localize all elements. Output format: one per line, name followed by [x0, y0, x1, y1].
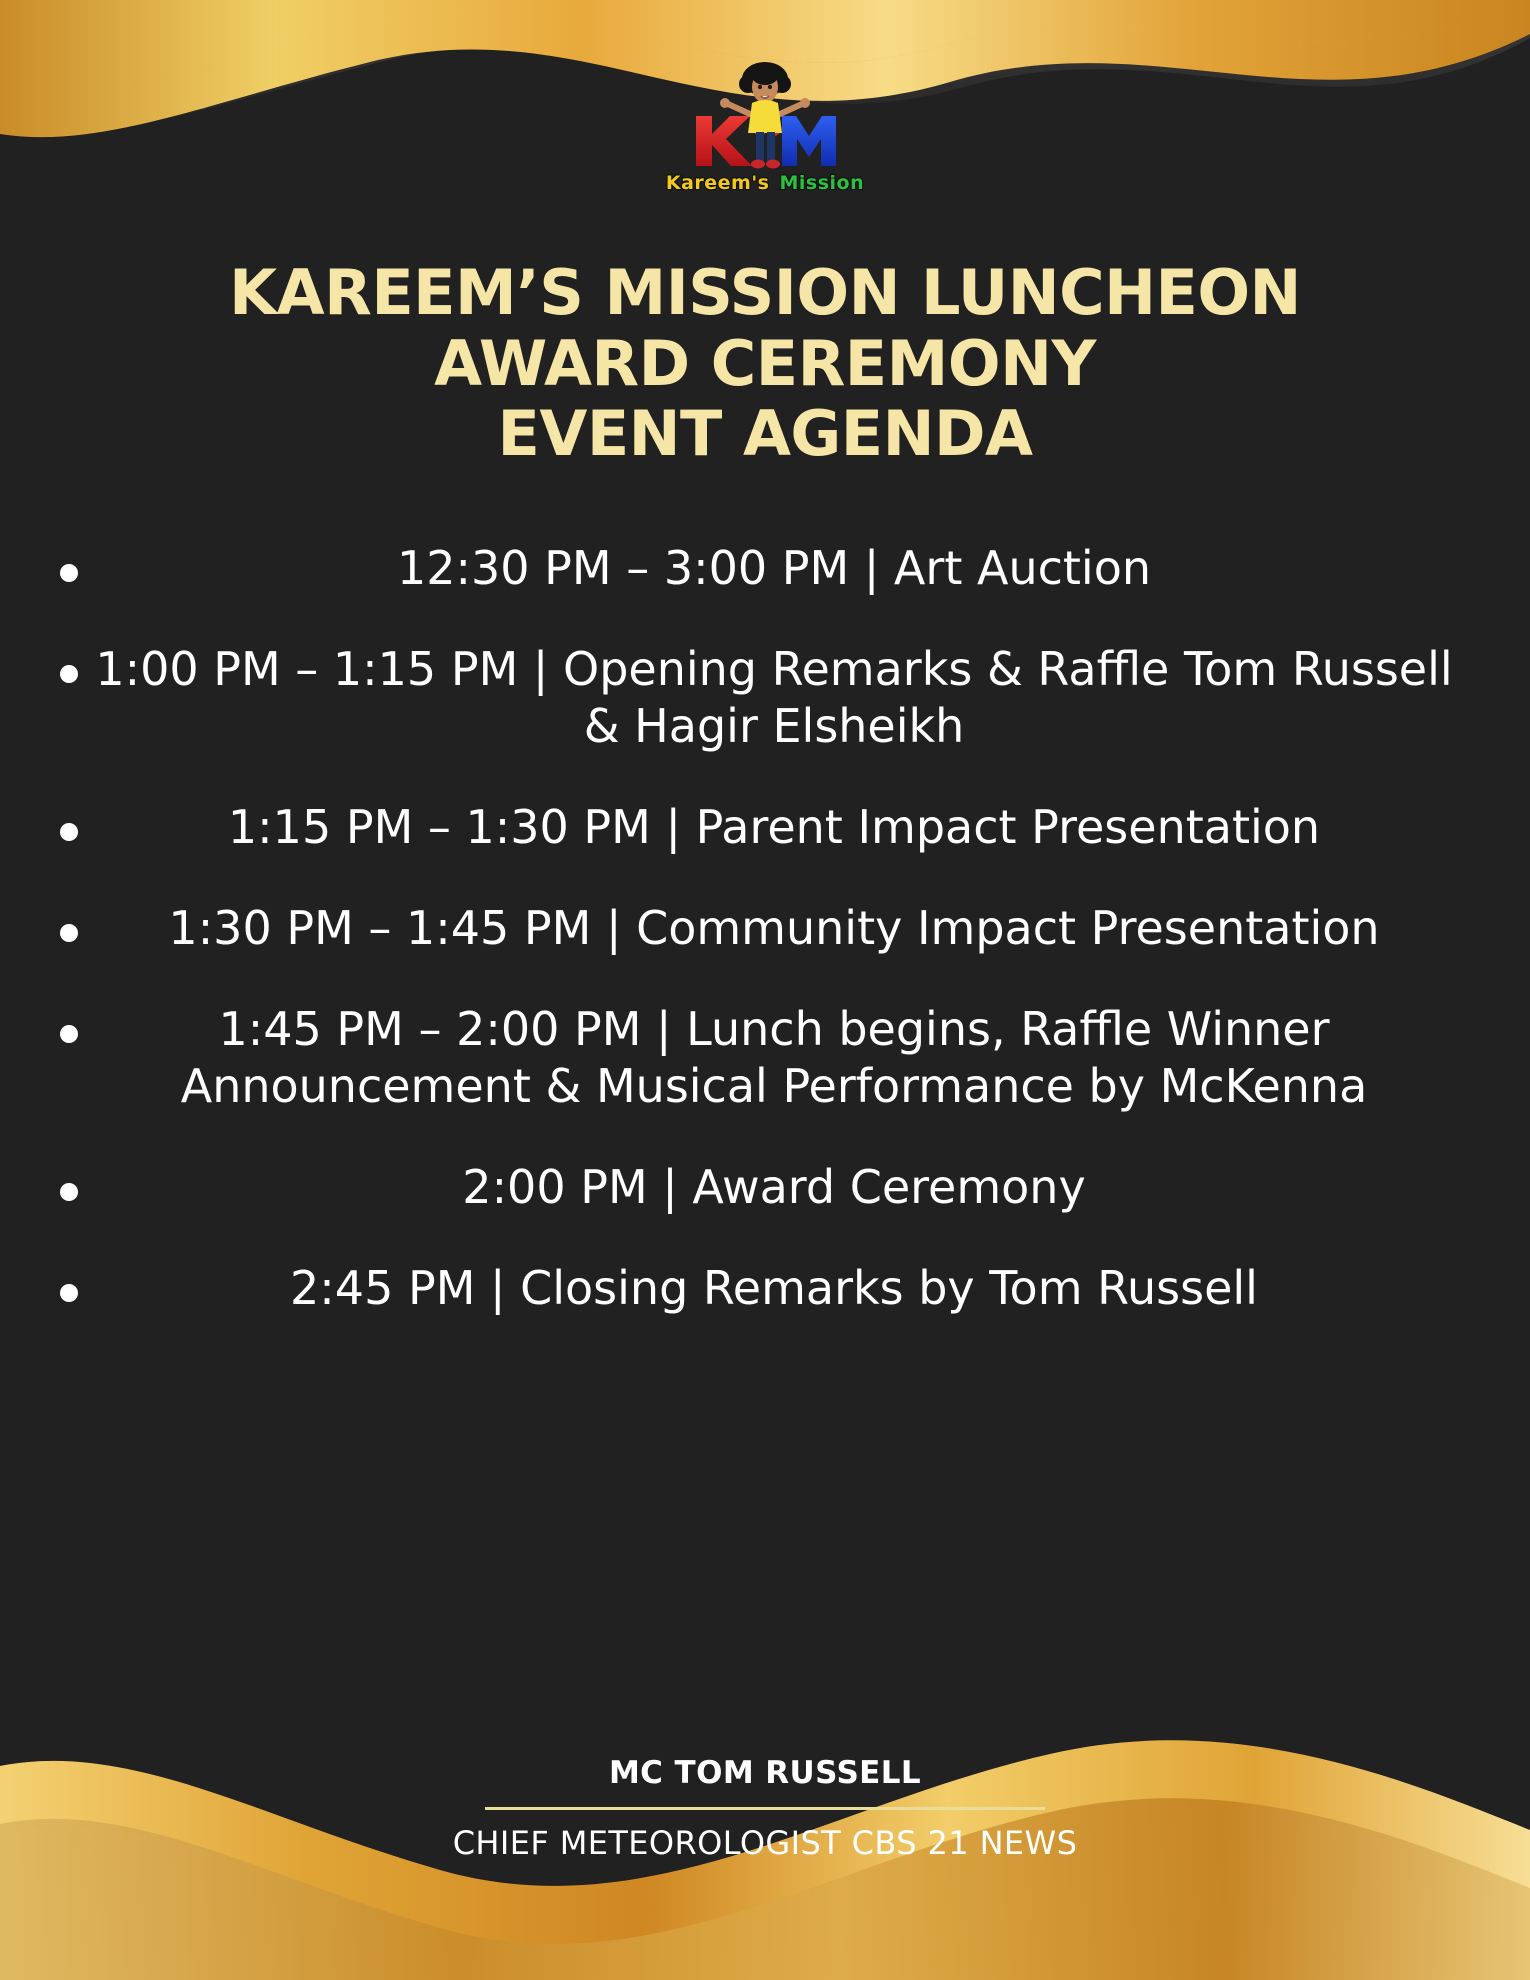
- list-item: 12:30 PM – 3:00 PM | Art Auction: [0, 540, 1530, 597]
- event-agenda-poster: Kareem'sMission KAREEM’S MISSION LUNCHEO…: [0, 0, 1530, 1980]
- footer-block: MC TOM RUSSELL CHIEF METEOROLOGIST CBS 2…: [0, 1755, 1530, 1862]
- list-item: 1:30 PM – 1:45 PM | Community Impact Pre…: [0, 900, 1530, 957]
- agenda-item-text: 1:00 PM – 1:15 PM | Opening Remarks & Ra…: [78, 641, 1470, 755]
- agenda-list: 12:30 PM – 3:00 PM | Art Auction 1:00 PM…: [0, 540, 1530, 1361]
- logo-letter-k: [696, 116, 752, 166]
- bullet-icon: [60, 564, 78, 582]
- kareems-mission-logo-icon: [670, 58, 860, 178]
- bullet-icon: [60, 1183, 78, 1201]
- agenda-item-text: 12:30 PM – 3:00 PM | Art Auction: [78, 540, 1470, 597]
- bullet-icon: [60, 665, 78, 683]
- bullet-icon: [60, 924, 78, 942]
- bullet-icon: [60, 823, 78, 841]
- title-line-2: AWARD CEREMONY: [0, 329, 1530, 400]
- agenda-item-text: 1:30 PM – 1:45 PM | Community Impact Pre…: [78, 900, 1470, 957]
- logo-letter-m: [782, 116, 836, 166]
- agenda-item-text: 1:45 PM – 2:00 PM | Lunch begins, Raffle…: [78, 1001, 1470, 1115]
- agenda-item-text: 2:45 PM | Closing Remarks by Tom Russell: [78, 1260, 1470, 1317]
- list-item: 2:45 PM | Closing Remarks by Tom Russell: [0, 1260, 1530, 1317]
- agenda-item-text: 2:00 PM | Award Ceremony: [78, 1159, 1470, 1216]
- page-title: KAREEM’S MISSION LUNCHEON AWARD CEREMONY…: [0, 258, 1530, 470]
- agenda-item-text: 1:15 PM – 1:30 PM | Parent Impact Presen…: [78, 799, 1470, 856]
- mc-name: MC TOM RUSSELL: [0, 1755, 1530, 1791]
- bullet-icon: [60, 1025, 78, 1043]
- list-item: 1:15 PM – 1:30 PM | Parent Impact Presen…: [0, 799, 1530, 856]
- bullet-icon: [60, 1284, 78, 1302]
- list-item: 1:00 PM – 1:15 PM | Opening Remarks & Ra…: [0, 641, 1530, 755]
- title-line-1: KAREEM’S MISSION LUNCHEON: [0, 258, 1530, 329]
- list-item: 2:00 PM | Award Ceremony: [0, 1159, 1530, 1216]
- title-line-3: EVENT AGENDA: [0, 399, 1530, 470]
- logo-block: Kareem'sMission: [0, 58, 1530, 193]
- gold-divider: [485, 1807, 1045, 1810]
- list-item: 1:45 PM – 2:00 PM | Lunch begins, Raffle…: [0, 1001, 1530, 1115]
- mc-role: CHIEF METEOROLOGIST CBS 21 NEWS: [0, 1824, 1530, 1862]
